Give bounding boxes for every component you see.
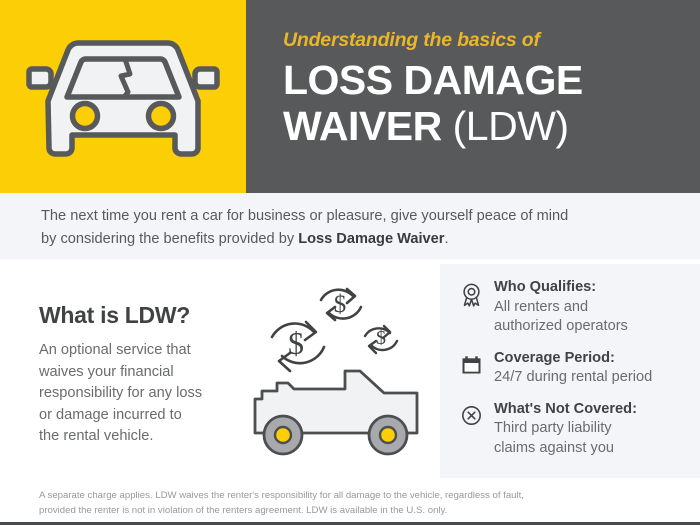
footer-line: provided the renter is not in violation … bbox=[39, 504, 669, 519]
svg-text:$: $ bbox=[376, 327, 386, 349]
circle-x-icon bbox=[456, 401, 486, 431]
subtitle-inner: The next time you rent a car for busines… bbox=[41, 205, 671, 251]
footer-line: A separate charge applies. LDW waives th… bbox=[39, 489, 669, 504]
fact-desc: 24/7 during rental period bbox=[494, 368, 692, 388]
fact-text: What's Not Covered: Third party liabilit… bbox=[494, 400, 692, 459]
calendar-icon bbox=[456, 350, 486, 380]
fact-desc-line: authorized operators bbox=[494, 317, 692, 337]
body-line: the rental vehicle. bbox=[39, 426, 244, 448]
fact-title: Who Qualifies: bbox=[494, 279, 596, 295]
hero-text-block: Understanding the basics of LOSS DAMAGE … bbox=[283, 30, 693, 149]
dollar-refresh-icon: $ bbox=[365, 326, 397, 353]
subtitle-line-2: by considering the benefits provided by … bbox=[41, 228, 671, 251]
hero-title-ldw: (LDW) bbox=[453, 103, 569, 149]
subtitle-emphasis: Loss Damage Waiver bbox=[298, 231, 444, 247]
body-line: An optional service that bbox=[39, 340, 244, 362]
hero-title-light bbox=[442, 103, 453, 149]
fact-item-who-qualifies[interactable]: Who Qualifies: All renters and authorize… bbox=[456, 278, 692, 337]
dollar-refresh-icon: $ bbox=[321, 289, 361, 320]
what-is-ldw-heading: What is LDW? bbox=[39, 302, 244, 329]
pickup-truck-with-money-icon: $ $ $ bbox=[248, 275, 438, 465]
hero-title-line1: LOSS DAMAGE bbox=[283, 57, 693, 103]
what-is-ldw-body: An optional service that waives your fin… bbox=[39, 340, 244, 448]
footer-disclaimer: A separate charge applies. LDW waives th… bbox=[39, 489, 669, 518]
hero-title-bold: WAIVER bbox=[283, 103, 442, 149]
dollar-refresh-icon: $ bbox=[272, 322, 324, 371]
fact-desc-line: Third party liability bbox=[494, 419, 692, 439]
cracked-windshield-car-icon bbox=[24, 26, 222, 171]
subtitle-line-1: The next time you rent a car for busines… bbox=[41, 205, 671, 228]
svg-text:$: $ bbox=[334, 291, 347, 318]
svg-text:$: $ bbox=[288, 325, 304, 361]
fact-item-not-covered[interactable]: What's Not Covered: Third party liabilit… bbox=[456, 400, 692, 459]
pickup-truck-icon bbox=[255, 371, 417, 454]
hero-section: Understanding the basics of LOSS DAMAGE … bbox=[0, 0, 700, 193]
hero-eyebrow: Understanding the basics of bbox=[283, 30, 693, 51]
fact-title: What's Not Covered: bbox=[494, 401, 637, 417]
fact-desc: Third party liability claims against you bbox=[494, 419, 692, 458]
subtitle-line2-suffix: . bbox=[444, 231, 448, 247]
subtitle-line2-prefix: by considering the benefits provided by bbox=[41, 231, 298, 247]
fact-text: Coverage Period: 24/7 during rental peri… bbox=[494, 349, 692, 388]
main-content: What is LDW? An optional service that wa… bbox=[0, 259, 700, 482]
fact-text: Who Qualifies: All renters and authorize… bbox=[494, 278, 692, 337]
fact-desc-line: claims against you bbox=[494, 439, 692, 459]
facts-panel: Who Qualifies: All renters and authorize… bbox=[440, 264, 700, 478]
hero-title-line2: WAIVER (LDW) bbox=[283, 103, 693, 149]
body-line: or damage incurred to bbox=[39, 405, 244, 427]
facts-list: Who Qualifies: All renters and authorize… bbox=[456, 278, 692, 458]
fact-desc-line: 24/7 during rental period bbox=[494, 368, 692, 388]
subtitle-band: The next time you rent a car for busines… bbox=[0, 193, 700, 259]
fact-desc: All renters and authorized operators bbox=[494, 298, 692, 337]
fact-desc-line: All renters and bbox=[494, 298, 692, 318]
infographic-page: Understanding the basics of LOSS DAMAGE … bbox=[0, 0, 700, 525]
body-line: responsibility for any loss bbox=[39, 383, 244, 405]
body-line: waives your financial bbox=[39, 362, 244, 384]
award-ribbon-icon bbox=[456, 279, 486, 309]
fact-title: Coverage Period: bbox=[494, 350, 615, 366]
fact-item-coverage-period[interactable]: Coverage Period: 24/7 during rental peri… bbox=[456, 349, 692, 388]
left-column: What is LDW? An optional service that wa… bbox=[39, 302, 244, 448]
